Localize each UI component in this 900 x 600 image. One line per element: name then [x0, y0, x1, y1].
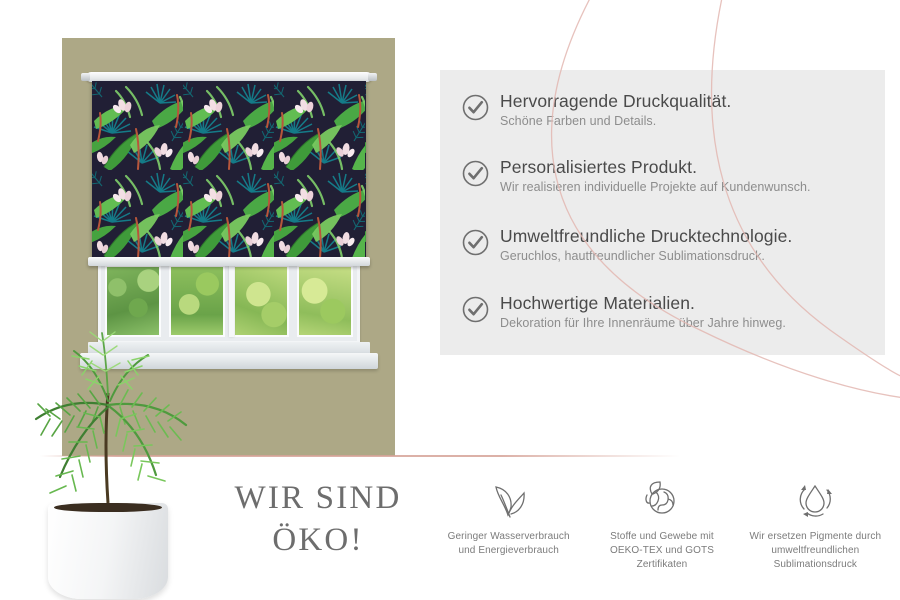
- eco-caption-line1: Stoffe und Gewebe mit: [585, 530, 738, 544]
- feature-subtitle: Wir realisieren individuelle Projekte au…: [500, 180, 811, 196]
- eco-caption: Geringer Wasserverbrauch und Energieverb…: [448, 530, 570, 558]
- eco-caption-line2: umweltfreundlichen: [750, 544, 882, 558]
- features-panel: Hervorragende Druckqualität. Schöne Farb…: [440, 70, 885, 355]
- feature-title: Umweltfreundliche Drucktechnologie.: [500, 227, 792, 247]
- water-drop-recycle-icon: [790, 472, 840, 524]
- plant-pot: [48, 503, 168, 599]
- roller-blind: [90, 72, 368, 270]
- roller-end-cap-right: [368, 73, 377, 81]
- eco-caption-line2: OEKO-TEX und GOTS Zertifikaten: [585, 544, 738, 572]
- roller-blind-fabric: [92, 81, 366, 259]
- eco-caption-line1: Geringer Wasserverbrauch: [448, 530, 570, 544]
- two-leaves-icon: [484, 472, 534, 524]
- check-circle-icon: [462, 94, 489, 126]
- check-circle-icon: [462, 229, 489, 261]
- feature-item: Hervorragende Druckqualität. Schöne Farb…: [462, 92, 731, 129]
- globe-leaf-icon: [637, 472, 687, 524]
- eco-badges: Geringer Wasserverbrauch und Energieverb…: [432, 472, 892, 592]
- feature-item: Umweltfreundliche Drucktechnologie. Geru…: [462, 227, 792, 264]
- feature-title: Hochwertige Materialien.: [500, 294, 786, 314]
- eco-badge: Stoffe und Gewebe mit OEKO-TEX und GOTS …: [585, 472, 738, 592]
- eco-caption-line1: Wir ersetzen Pigmente durch: [750, 530, 882, 544]
- potted-palm-plant: [0, 255, 240, 600]
- feature-title: Hervorragende Druckqualität.: [500, 92, 731, 112]
- eco-caption-line2: und Energieverbrauch: [448, 544, 570, 558]
- eco-heading-line1: WIR SIND: [218, 478, 418, 520]
- feature-subtitle: Geruchlos, hautfreundlicher Sublimations…: [500, 249, 792, 265]
- window-pane: [297, 265, 353, 337]
- feature-title: Personalisiertes Produkt.: [500, 158, 811, 178]
- check-circle-icon: [462, 160, 489, 192]
- eco-caption-line3: Sublimationsdruck: [750, 558, 882, 572]
- feature-item: Hochwertige Materialien. Dekoration für …: [462, 294, 786, 331]
- feature-item: Personalisiertes Produkt. Wir realisiere…: [462, 158, 811, 195]
- roller-end-cap-left: [81, 73, 90, 81]
- eco-badge: Geringer Wasserverbrauch und Energieverb…: [432, 472, 585, 592]
- promo-banner: Hervorragende Druckqualität. Schöne Farb…: [0, 0, 900, 600]
- eco-badge: Wir ersetzen Pigmente durch umweltfreund…: [739, 472, 892, 592]
- eco-heading-line2: ÖKO!: [218, 520, 418, 562]
- tropical-leaves-pattern: [92, 81, 366, 259]
- feature-subtitle: Schöne Farben und Details.: [500, 114, 731, 130]
- check-circle-icon: [462, 296, 489, 328]
- feature-subtitle: Dekoration für Ihre Innenräume über Jahr…: [500, 316, 786, 332]
- eco-caption: Wir ersetzen Pigmente durch umweltfreund…: [750, 530, 882, 573]
- eco-heading: WIR SIND ÖKO!: [218, 478, 418, 562]
- window-pane: [233, 265, 289, 337]
- eco-caption: Stoffe und Gewebe mit OEKO-TEX und GOTS …: [585, 530, 738, 573]
